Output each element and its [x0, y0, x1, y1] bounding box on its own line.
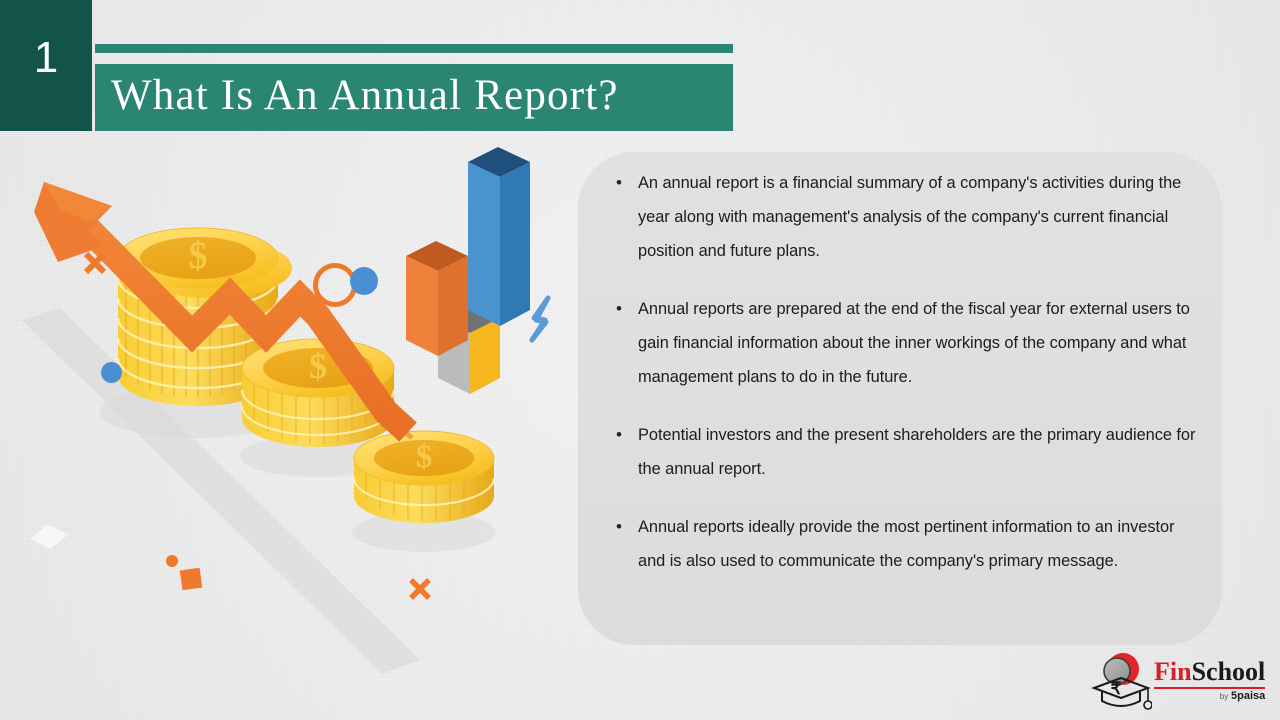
svg-text:₹: ₹	[1111, 679, 1122, 698]
logo-name-second: School	[1192, 657, 1266, 686]
logo-wordmark: FinSchool by 5paisa	[1154, 659, 1265, 703]
title-accent-rule	[95, 44, 733, 53]
finschool-logo[interactable]: ₹ FinSchool by 5paisa	[1090, 648, 1270, 714]
bullet-text: An annual report is a financial summary …	[638, 166, 1206, 268]
dot-orange-small-icon	[166, 555, 178, 567]
bullet-text: Potential investors and the present shar…	[638, 418, 1206, 486]
x-mark-orange-bottom-icon	[408, 577, 432, 601]
title-bar: What Is An Annual Report?	[95, 64, 733, 131]
slide-canvas: $ $	[0, 0, 1280, 720]
bullet-item: •An annual report is a financial summary…	[616, 166, 1206, 268]
graduation-cap-rupee-icon: ₹	[1090, 651, 1152, 711]
bullet-marker: •	[616, 510, 638, 544]
x-mark-orange-top-icon	[82, 250, 108, 276]
bullet-item: •Annual reports ideally provide the most…	[616, 510, 1206, 578]
page-title: What Is An Annual Report?	[95, 71, 619, 120]
bullet-list: •An annual report is a financial summary…	[616, 166, 1206, 578]
logo-underline	[1154, 687, 1265, 689]
bullet-marker: •	[616, 166, 638, 200]
slide-number: 1	[34, 36, 58, 80]
logo-by-label: by	[1220, 692, 1228, 701]
lightning-bolt-blue-icon	[532, 298, 548, 340]
bullet-marker: •	[616, 418, 638, 452]
square-orange-icon	[180, 568, 203, 591]
dot-blue-large-icon	[350, 267, 378, 295]
coin-dollar-sign: $	[309, 346, 327, 386]
logo-name-first: Fin	[1154, 657, 1192, 686]
bullet-text: Annual reports ideally provide the most …	[638, 510, 1206, 578]
logo-parent-brand: 5paisa	[1231, 690, 1265, 702]
slide-number-block: 1	[0, 0, 92, 131]
bullet-item: •Potential investors and the present sha…	[616, 418, 1206, 486]
bullet-marker: •	[616, 292, 638, 326]
dot-blue-small-icon	[101, 362, 122, 383]
coin-dollar-sign: $	[189, 235, 208, 277]
bullet-item: •Annual reports are prepared at the end …	[616, 292, 1206, 394]
coins-growth-chart-illustration: $ $	[0, 140, 580, 700]
content-panel: •An annual report is a financial summary…	[578, 152, 1222, 645]
coin-dollar-sign: $	[416, 439, 433, 475]
bullet-text: Annual reports are prepared at the end o…	[638, 292, 1206, 394]
coin-stack-small: $	[352, 431, 496, 552]
isometric-bar-chart	[406, 147, 530, 394]
